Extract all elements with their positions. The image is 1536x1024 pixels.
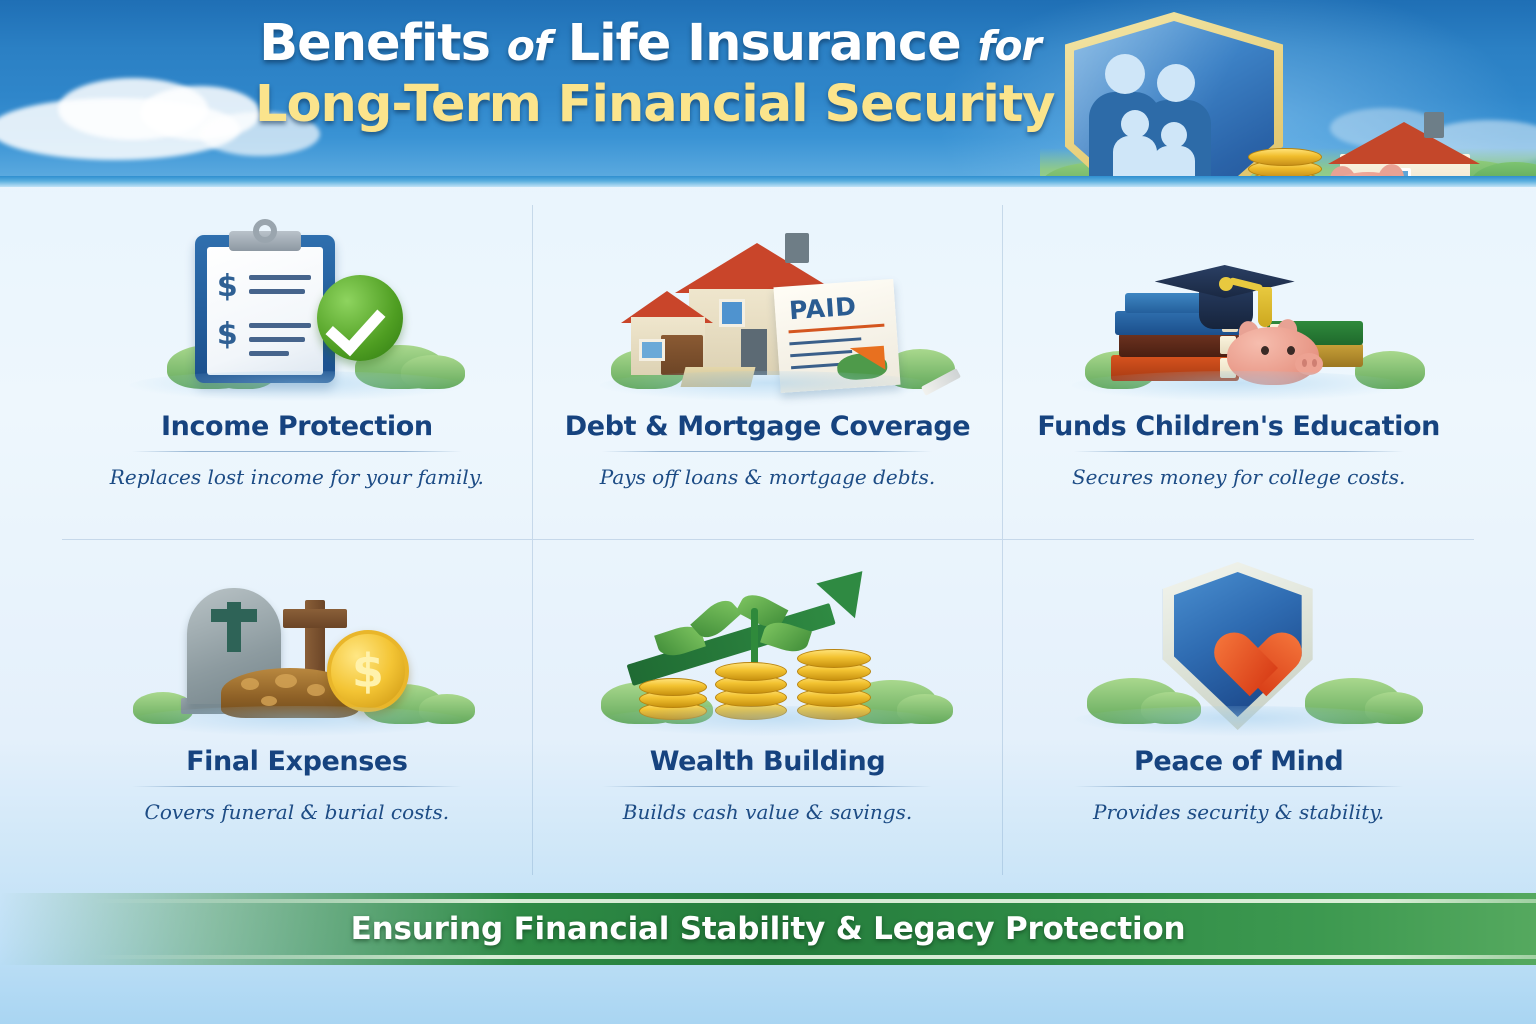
benefit-card-debt-mortgage-coverage[interactable]: PAID Debt & Mortgage Coverage Pays off l… xyxy=(533,205,1004,540)
title-underline xyxy=(1074,786,1404,787)
title-underline xyxy=(132,786,462,787)
title-underline xyxy=(1074,451,1404,452)
benefit-card-final-expenses[interactable]: $ Final Expenses Covers funeral & burial… xyxy=(62,540,533,875)
benefit-title: Debt & Mortgage Coverage xyxy=(565,411,970,442)
shield-heart-icon xyxy=(1059,552,1419,738)
paid-stamp-label: PAID xyxy=(789,292,858,326)
header-divider-rule xyxy=(0,176,1536,187)
benefit-description: Builds cash value & savings. xyxy=(623,800,912,824)
tombstone-coin-icon: $ xyxy=(117,552,477,738)
benefit-card-funds-childrens-education[interactable]: Funds Children's Education Secures money… xyxy=(1003,205,1474,540)
piggy-bank-icon xyxy=(1312,164,1434,176)
hero-illustration xyxy=(1040,0,1536,176)
benefit-description: Pays off loans & mortgage debts. xyxy=(600,465,935,489)
benefit-title: Final Expenses xyxy=(186,746,407,777)
benefit-card-peace-of-mind[interactable]: Peace of Mind Provides security & stabil… xyxy=(1003,540,1474,875)
graduation-cap-icon xyxy=(1155,265,1295,309)
house-paid-document-icon: PAID xyxy=(587,217,947,403)
benefits-grid: $ $ Income Protection Replaces lost inco… xyxy=(62,205,1474,875)
benefit-title: Wealth Building xyxy=(650,746,886,777)
dollar-symbol: $ xyxy=(352,648,384,694)
title-word-benefits: Benefits xyxy=(259,14,490,73)
heart-icon xyxy=(1199,606,1277,676)
benefit-description: Replaces lost income for your family. xyxy=(110,465,484,489)
benefit-title: Peace of Mind xyxy=(1134,746,1343,777)
benefit-description: Covers funeral & burial costs. xyxy=(145,800,450,824)
footer-tagline: Ensuring Financial Stability & Legacy Pr… xyxy=(351,911,1186,947)
benefit-title: Funds Children's Education xyxy=(1037,411,1440,442)
dollar-coin-icon: $ xyxy=(327,630,409,712)
clipboard-check-icon: $ $ xyxy=(117,217,477,403)
header-banner: Benefits of Life Insurance for Long-Term… xyxy=(0,0,1536,176)
coins-plant-growth-icon xyxy=(587,552,947,738)
benefit-description: Secures money for college costs. xyxy=(1072,465,1405,489)
page-title: Benefits of Life Insurance for Long-Term… xyxy=(255,18,1045,130)
graduation-cap-books-piggy-icon xyxy=(1059,217,1419,403)
benefit-title: Income Protection xyxy=(161,411,433,442)
benefit-card-income-protection[interactable]: $ $ Income Protection Replaces lost inco… xyxy=(62,205,533,540)
benefit-card-wealth-building[interactable]: Wealth Building Builds cash value & savi… xyxy=(533,540,1004,875)
title-underline xyxy=(132,451,462,452)
title-underline xyxy=(602,451,932,452)
title-subline: Long-Term Financial Security xyxy=(255,79,1045,130)
infographic-poster: Benefits of Life Insurance for Long-Term… xyxy=(0,0,1536,1024)
title-word-life-insurance: Life Insurance xyxy=(568,14,961,73)
benefit-description: Provides security & stability. xyxy=(1093,800,1384,824)
title-underline xyxy=(602,786,932,787)
title-word-of: of xyxy=(507,22,551,70)
title-word-for: for xyxy=(978,22,1041,70)
footer-banner: Ensuring Financial Stability & Legacy Pr… xyxy=(0,893,1536,965)
